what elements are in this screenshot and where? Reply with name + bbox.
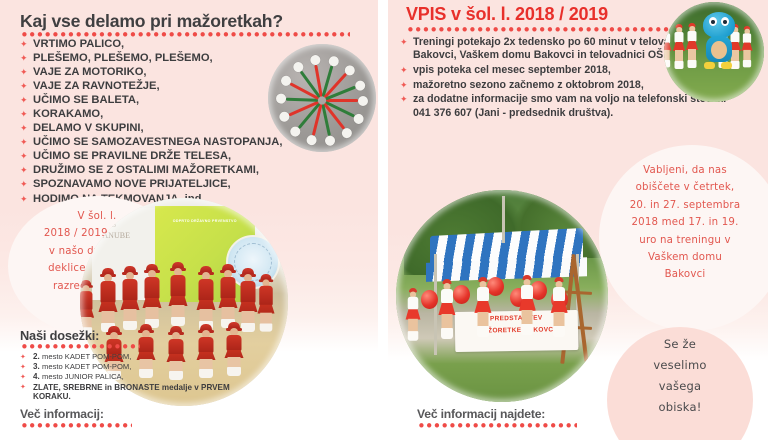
flyer-page: Kaj vse delamo pri mažoretkah? •••••••••… <box>0 0 768 440</box>
invitation-line: uro na treningu v <box>599 232 768 249</box>
award-rank: 3. <box>33 362 40 371</box>
backdrop-line: DANUBE <box>97 230 155 241</box>
backdrop-line: ALPS <box>97 219 155 230</box>
list-item: UČIMO SE PRAVILNE DRŽE TELESA, <box>20 150 350 163</box>
invitation-text: Vabljeni, da nas obiščete v četrtek, 20.… <box>599 162 768 284</box>
awards-title: Naši dosežki: <box>20 328 99 343</box>
more-info-label: Več informacij: <box>20 407 104 421</box>
invitation-line: 2018 med 17. in 19. <box>599 214 768 231</box>
list-item: SPOZNAVAMO NOVE PRIJATELJICE, <box>20 178 350 191</box>
award-text: mesto JUNIOR PALICA, <box>42 372 124 381</box>
invitation-line: Bakovci <box>599 266 768 283</box>
closing-line: veselimo <box>607 355 753 376</box>
invitation-line: Vaškem domu <box>599 249 768 266</box>
stojnica-s-salonarji-photo: PREDSTAVITEV MAŽORETKE BAKOVCI <box>396 190 608 402</box>
award-text: mesto KADET POM-POM, <box>42 362 131 371</box>
list-item: 2. mesto KADET POM-POM, <box>20 352 235 362</box>
award-text: mesto KADET POM-POM, <box>42 352 131 361</box>
award-rank: 4. <box>33 372 40 381</box>
closing-line: vašega <box>607 376 753 397</box>
banner-text: ODPRTO DRŽAVNO PRVENSTVO <box>159 219 251 223</box>
left-panel: Kaj vse delamo pri mažoretkah? •••••••••… <box>0 0 378 440</box>
invitation-line: Vabljeni, da nas <box>599 162 768 179</box>
closing-line: obiska! <box>607 397 753 418</box>
more-info-dot-divider: •••••••••••••••• <box>20 422 132 431</box>
left-panel-title: Kaj vse delamo pri mažoretkah? <box>20 11 283 32</box>
list-item: ZLATE, SREBRNE in BRONASTE medalje v PRV… <box>20 383 235 403</box>
list-item: 4. mesto JUNIOR PALICA, <box>20 372 235 382</box>
backdrop-text: ALPS DANUBE <box>97 219 155 241</box>
awards-dot-divider: ••••••••••••••••• <box>20 343 140 352</box>
closing-line: Se že <box>607 334 753 355</box>
right-title-dot-divider: ••••••••••••••••••••••••••••••••••••••••… <box>406 26 678 35</box>
invitation-line: 20. in 27. septembra <box>599 197 768 214</box>
closing-text: Se že veselimo vašega obiska! <box>607 334 753 418</box>
more-info-najdete-label: Več informacij najdete: <box>417 407 545 421</box>
award-rank: 2. <box>33 352 40 361</box>
maskota-figure <box>706 12 732 70</box>
more-info-najdete-dot-divider: •••••••••••••••••••••••• <box>417 422 577 431</box>
award-text: ZLATE, SREBRNE in BRONASTE medalje v PRV… <box>33 383 230 402</box>
list-item: DRUŽIMO SE Z OSTALIMI MAŽORETKAMI, <box>20 164 350 177</box>
maskota-in-mazoretke-photo <box>664 2 764 102</box>
list-item: 3. mesto KADET POM-POM, <box>20 362 235 372</box>
right-panel-title: VPIS v šol. l. 2018 / 2019 <box>406 4 608 25</box>
awards-list: 2. mesto KADET POM-POM, 3. mesto KADET P… <box>20 352 235 403</box>
invitation-line: obiščete v četrtek, <box>599 179 768 196</box>
mazoretne-palice-photo <box>268 44 376 152</box>
